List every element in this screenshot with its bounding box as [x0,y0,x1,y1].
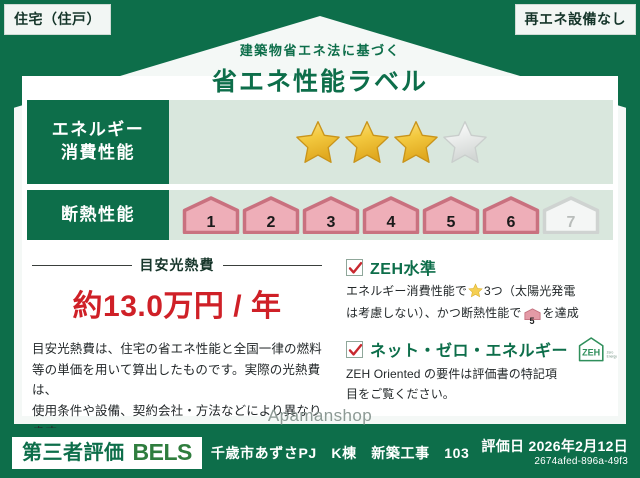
utility-cost-amount: 約13.0万円 / 年 [32,281,322,325]
rule-right [223,265,323,266]
check-desc-zeh-level-b: 3つ（太陽光発電 [484,284,575,298]
check-desc-zeh-level-d: を達成 [543,306,579,320]
row-label-energy-line2: 消費性能 [61,142,135,165]
checkbox-checked-icon [346,341,363,358]
bels-logo-jp: 第三者評価 [22,443,125,463]
energy-performance-label: 住宅（住戸） 再エネ設備なし 建築物省エネ法に基づく 省エネ性能ラベル エネルギ… [0,0,640,478]
star-icon-inline [468,287,483,301]
svg-text:Energy: Energy [607,355,617,359]
insulation-level-achieved: 6 [482,196,540,234]
insulation-level-achieved: 5 [422,196,480,234]
evaluation-date: 評価日 2026年2月12日 [481,439,628,454]
check-desc-zeh-level-c: は考慮しない）、かつ断熱性能で [346,306,522,320]
insulation-level-achieved: 1 [182,196,240,234]
star-icon-filled [344,119,390,165]
tag-renewable-equipment: 再エネ設備なし [515,4,637,35]
insulation-level-achieved: 2 [242,196,300,234]
footer-meta: 評価日 2026年2月12日 2674afed-896a-49f3 [481,439,628,467]
insulation-level-number: 5 [422,215,480,231]
check-title-zeh-level: ZEH水準 [370,255,437,279]
house-icon-inline-value: 5 [524,317,541,326]
check-head-net-zero-energy: ネット・ゼロ・エネルギー ZEH Zero Energy [346,336,617,362]
star-icon-filled [393,119,439,165]
utility-cost-note: 目安光熱費は、住宅の省エネ性能と全国一律の燃料 等の単価を用いて算出したものです… [32,339,322,442]
insulation-level-number: 4 [362,215,420,231]
insulation-level-number: 6 [482,215,540,231]
row-label-energy-line1: エネルギー [52,119,145,142]
utility-cost-note-line2: 等の単価を用いて算出したものです。実際の光熱費は、 [32,360,322,401]
zeh-badge-icon: ZEH Zero Energy [577,336,617,362]
row-label-insulation-line1: 断熱性能 [61,204,135,227]
bels-logo-en: BELS [133,441,192,464]
star-rating [295,119,488,165]
lower-content: 目安光熱費 約13.0万円 / 年 目安光熱費は、住宅の省エネ性能と全国一律の燃… [26,252,614,412]
svg-text:ZEH: ZEH [582,348,600,358]
star-icon-filled [295,119,341,165]
insulation-scale: 1234567 [182,196,600,234]
check-desc-net-zero-line1: ZEH Oriented の要件は評価書の特記項 [346,365,617,384]
tag-dwelling-type: 住宅（住戸） [4,4,111,35]
insulation-level-achieved: 4 [362,196,420,234]
label-title-block: 建築物省エネ法に基づく 省エネ性能ラベル [0,40,640,98]
check-item-net-zero-energy: ネット・ゼロ・エネルギー ZEH Zero Energy ZEH Oriente… [346,336,617,403]
rating-rows: エネルギー 消費性能 断熱性能 1234567 [26,99,614,245]
check-head-zeh-level: ZEH水準 [346,255,617,279]
check-desc-zeh-level-a: エネルギー消費性能で [346,284,467,298]
insulation-level-number: 3 [302,215,360,231]
check-desc-net-zero-energy: ZEH Oriented の要件は評価書の特記項 目をご覧ください。 [346,365,617,403]
insulation-level-number: 2 [242,215,300,231]
row-value-energy [169,100,613,184]
page-title: 省エネ性能ラベル [0,62,640,98]
insulation-level-achieved: 3 [302,196,360,234]
checkbox-checked-icon [346,259,363,276]
star-icon-empty [442,119,488,165]
row-label-energy: エネルギー 消費性能 [27,100,169,184]
footer-bar: 第三者評価 BELS 千歳市あずさPJ K棟 新築工事 103 評価日 2026… [0,428,640,478]
utility-cost-heading: 目安光熱費 [32,255,322,275]
utility-cost-section: 目安光熱費 約13.0万円 / 年 目安光熱費は、住宅の省エネ性能と全国一律の燃… [26,252,332,412]
row-energy-consumption: エネルギー 消費性能 [26,99,614,185]
title-subtitle: 建築物省エネ法に基づく [0,40,640,59]
check-desc-net-zero-line2: 目をご覧ください。 [346,385,617,404]
row-value-insulation: 1234567 [169,190,613,240]
evaluation-id: 2674afed-896a-49f3 [481,456,628,467]
insulation-level-empty: 7 [542,196,600,234]
insulation-level-number: 1 [182,215,240,231]
house-icon-inline: 5 [524,307,541,327]
utility-cost-heading-text: 目安光熱費 [140,255,215,275]
project-name: 千歳市あずさPJ K棟 新築工事 103 [211,443,470,463]
insulation-level-number: 7 [542,215,600,231]
bels-logo: 第三者評価 BELS [12,437,202,469]
row-label-insulation: 断熱性能 [27,190,169,240]
certification-checks: ZEH水準 エネルギー消費性能で3つ（太陽光発電 は考慮しない）、かつ断熱性能で… [340,252,619,412]
utility-cost-note-line1: 目安光熱費は、住宅の省エネ性能と全国一律の燃料 [32,339,322,360]
row-insulation: 断熱性能 1234567 [26,189,614,241]
check-item-zeh-level: ZEH水準 エネルギー消費性能で3つ（太陽光発電 は考慮しない）、かつ断熱性能で… [346,255,617,327]
rule-left [32,265,132,266]
check-title-net-zero-energy: ネット・ゼロ・エネルギー [370,337,568,361]
check-desc-zeh-level: エネルギー消費性能で3つ（太陽光発電 は考慮しない）、かつ断熱性能で5を達成 [346,282,617,327]
